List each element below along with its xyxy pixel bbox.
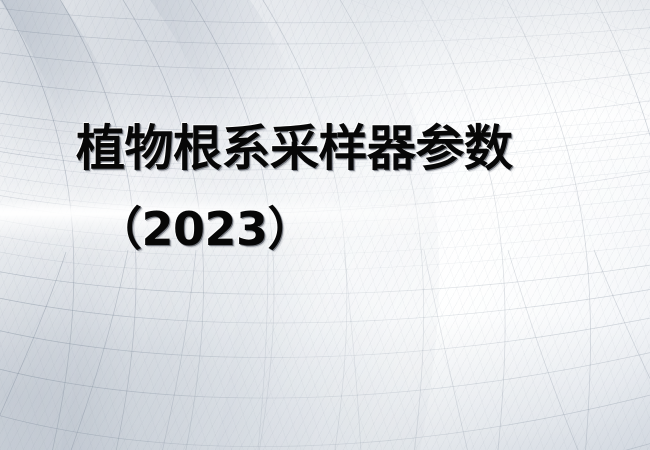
title-slide: 植物根系采样器参数 （2023） [0, 0, 650, 450]
slide-title: 植物根系采样器参数 [76, 124, 513, 173]
title-text-block: 植物根系采样器参数 （2023） [0, 0, 650, 450]
slide-subtitle-year: （2023） [96, 206, 313, 252]
